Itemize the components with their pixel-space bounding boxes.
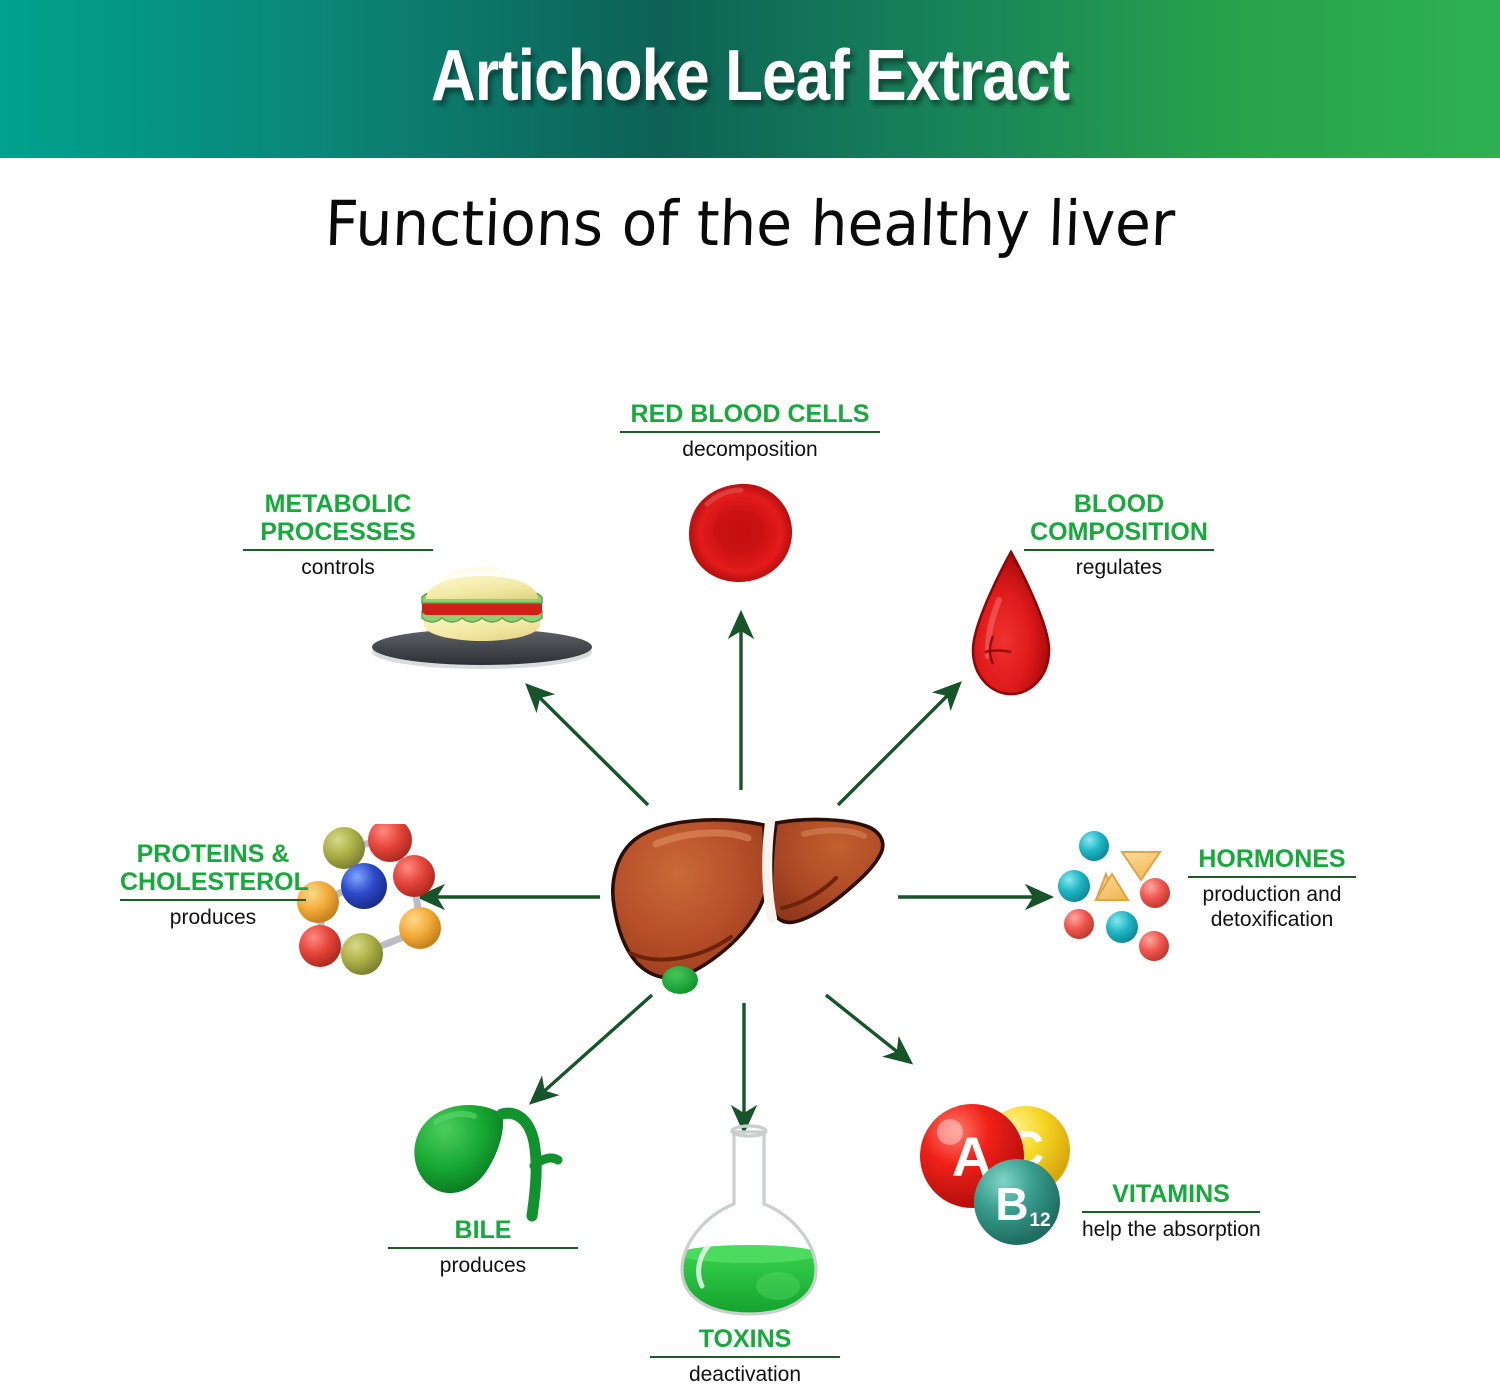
label-subtitle: deactivation	[650, 1362, 840, 1387]
label-subtitle: produces	[388, 1253, 578, 1278]
liver-functions-diagram: C A B 12 RED BLOOD CELLS decomposition M…	[0, 0, 1500, 1395]
label-rule	[620, 431, 880, 433]
label-rule	[1082, 1211, 1260, 1213]
label-blood-composition: BLOOD COMPOSITION regulates	[1024, 490, 1214, 580]
label-title: HORMONES	[1188, 845, 1356, 873]
flask-icon	[668, 1118, 830, 1318]
label-rule	[120, 899, 306, 901]
label-metabolic-processes: METABOLIC PROCESSES controls	[243, 490, 433, 580]
label-red-blood-cells: RED BLOOD CELLS decomposition	[620, 400, 880, 462]
label-title-line1: PROTEINS &	[120, 840, 306, 868]
label-rule	[650, 1356, 840, 1358]
label-toxins: TOXINS deactivation	[650, 1325, 840, 1387]
label-vitamins: VITAMINS help the absorption	[1082, 1180, 1260, 1242]
molecule-icon	[292, 824, 444, 976]
label-subtitle-line2: detoxification	[1188, 907, 1356, 932]
label-rule	[1188, 876, 1356, 878]
label-subtitle-line1: production and	[1188, 882, 1356, 907]
red-blood-cell-icon	[683, 478, 798, 588]
label-title-line2: PROCESSES	[243, 518, 433, 546]
vitamin-b-subscript: 12	[1029, 1210, 1050, 1231]
label-title: RED BLOOD CELLS	[620, 400, 880, 428]
label-rule	[388, 1247, 578, 1249]
label-subtitle: produces	[120, 905, 306, 930]
label-title: TOXINS	[650, 1325, 840, 1353]
label-hormones: HORMONES production and detoxification	[1188, 845, 1356, 932]
label-subtitle: decomposition	[620, 437, 880, 462]
label-title-line1: METABOLIC	[243, 490, 433, 518]
vitamin-spheres-icon: C A B 12	[916, 1100, 1096, 1260]
label-title: BILE	[388, 1216, 578, 1244]
arrow-vitamins	[826, 995, 910, 1062]
label-title-line2: COMPOSITION	[1024, 518, 1214, 546]
label-rule	[243, 549, 433, 551]
hormone-particles-icon	[1056, 830, 1204, 962]
arrow-bile	[532, 995, 652, 1102]
label-subtitle: help the absorption	[1082, 1217, 1260, 1242]
liver-icon	[596, 798, 902, 998]
label-proteins-cholesterol: PROTEINS & CHOLESTEROL produces	[120, 840, 306, 930]
arrow-metabolic-processes	[528, 686, 648, 805]
label-title-line1: BLOOD	[1024, 490, 1214, 518]
vitamin-b-letter: B	[995, 1178, 1028, 1230]
gallbladder-icon	[406, 1092, 566, 1224]
label-bile: BILE produces	[388, 1216, 578, 1278]
gallbladder-icon	[662, 966, 698, 994]
label-subtitle: controls	[243, 555, 433, 580]
arrow-blood-composition	[838, 684, 959, 805]
label-title-line2: CHOLESTEROL	[120, 868, 306, 896]
label-subtitle: regulates	[1024, 555, 1214, 580]
label-title: VITAMINS	[1082, 1180, 1260, 1208]
label-rule	[1024, 549, 1214, 551]
